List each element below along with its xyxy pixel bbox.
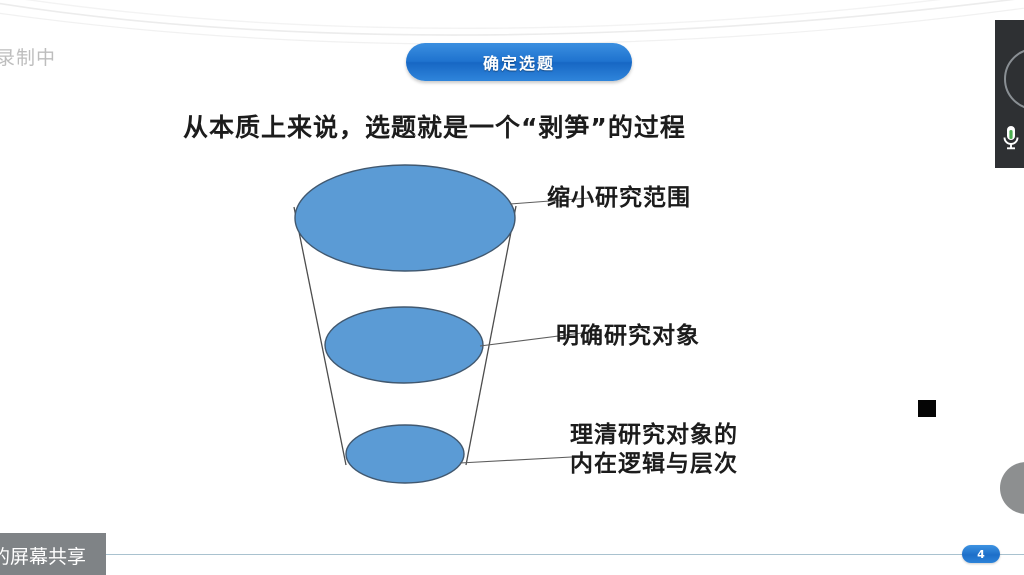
funnel-diagram: [270, 150, 590, 500]
slide-headline: 从本质上来说，选题就是一个“剥笋”的过程: [183, 108, 843, 144]
page-number-badge: 4: [962, 545, 1000, 563]
slide-title-pill: 确定选题: [406, 43, 632, 81]
funnel-label-3-line-1: 理清研究对象的: [570, 421, 800, 450]
microphone-icon[interactable]: [1000, 124, 1022, 154]
page-number-text: 4: [977, 548, 985, 561]
funnel-label-1: 缩小研究范围: [547, 184, 691, 213]
annotation-marker-square: [918, 400, 936, 417]
recording-indicator-text: 录制中: [0, 43, 56, 70]
avatar: [1004, 48, 1024, 110]
participant-video-tile[interactable]: [995, 20, 1024, 168]
edge-avatar-circle[interactable]: [1000, 462, 1024, 514]
screen-share-status-bar: 的屏幕共享: [0, 533, 106, 575]
funnel-stage-3-ellipse: [346, 425, 464, 483]
slide-title-text: 确定选题: [483, 50, 555, 74]
funnel-label-2: 明确研究对象: [556, 322, 700, 351]
footer-divider: [0, 554, 1024, 555]
funnel-label-3: 理清研究对象的 内在逻辑与层次: [570, 421, 800, 480]
funnel-stage-1-ellipse: [295, 165, 515, 271]
screen-share-status-text: 的屏幕共享: [0, 542, 86, 569]
funnel-label-3-line-2: 内在逻辑与层次: [570, 450, 800, 479]
slide-stage: 确定选题 从本质上来说，选题就是一个“剥笋”的过程 缩小研究范围 明确研究对象 …: [0, 0, 1024, 575]
funnel-stage-2-ellipse: [325, 307, 483, 383]
